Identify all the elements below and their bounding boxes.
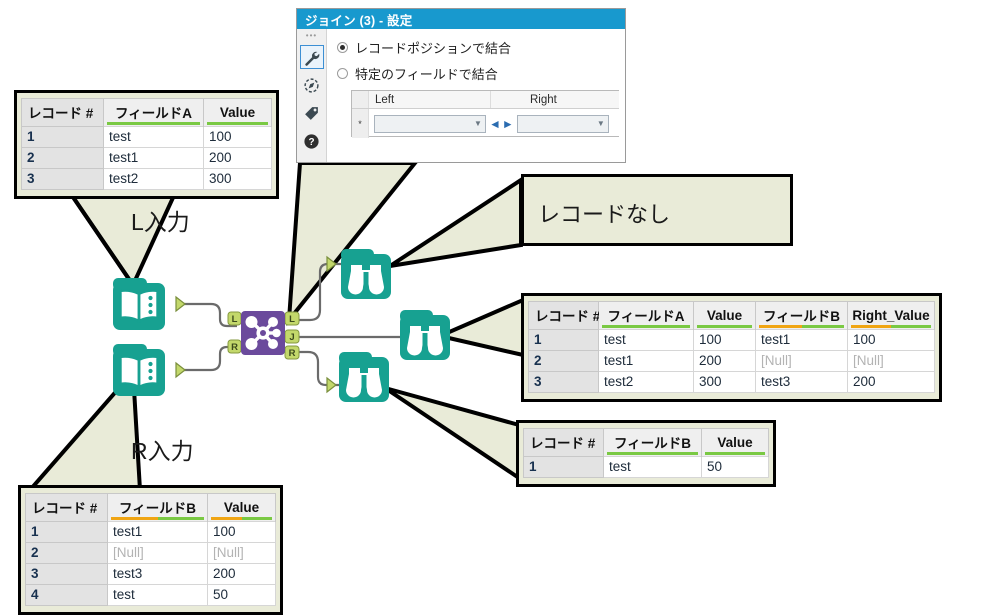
input-tool-left[interactable]: [113, 278, 165, 330]
chevron-down-icon[interactable]: ▼: [471, 116, 485, 132]
record-number-cell: 2: [26, 543, 108, 564]
join-grid-header: Left Right: [352, 91, 619, 109]
table-cell: [Null]: [848, 351, 935, 372]
dialog-title: ジョイン (3) - 設定: [297, 9, 625, 29]
table-cell: test3: [108, 564, 208, 585]
table-row: 3test3200: [26, 564, 276, 585]
record-number-cell: 1: [524, 457, 604, 478]
no-record-label: レコードなし: [538, 197, 670, 229]
tag-icon[interactable]: [300, 101, 324, 125]
table-cell: [Null]: [108, 543, 208, 564]
header-rule: [107, 122, 200, 125]
record-number-cell: 3: [26, 564, 108, 585]
browse-tool-l[interactable]: [341, 249, 391, 299]
svg-text:R: R: [231, 342, 238, 353]
svg-text:L: L: [232, 314, 238, 325]
dialog-icon-bar: •••: [297, 29, 327, 162]
svg-text:?: ?: [308, 137, 314, 148]
column-header: フィールドA: [104, 99, 204, 127]
record-number-cell: 3: [22, 169, 104, 190]
column-header: Value: [208, 494, 276, 522]
join-config-dialog[interactable]: ジョイン (3) - 設定 •••: [296, 8, 626, 163]
chevron-down-icon[interactable]: ▼: [594, 116, 608, 132]
record-number-cell: 3: [529, 372, 599, 393]
table-row: 1test1100: [26, 522, 276, 543]
table-cell: 300: [694, 372, 756, 393]
header-rule: [211, 517, 272, 520]
dialog-content: レコードポジションで結合 特定のフィールドで結合 Left Right *: [327, 29, 625, 162]
label-l-input: L入力: [131, 203, 190, 237]
radio-specific-fields-icon[interactable]: [337, 68, 348, 79]
column-header: フィールドB: [108, 494, 208, 522]
table-row: 4test50: [26, 585, 276, 606]
join-tool[interactable]: [241, 311, 285, 355]
table-cell: test3: [756, 372, 848, 393]
table-row: 2[Null][Null]: [26, 543, 276, 564]
table-cell: 50: [702, 457, 769, 478]
column-header-left: Left: [369, 91, 491, 108]
record-number-cell: 1: [22, 127, 104, 148]
column-header: レコード #: [529, 302, 599, 330]
swap-column-header: [491, 91, 524, 108]
right-field-select[interactable]: ▼: [517, 115, 609, 133]
table-cell: test2: [104, 169, 204, 190]
table-cell: 200: [208, 564, 276, 585]
table-row: 3test2300: [22, 169, 272, 190]
column-header: レコード #: [524, 429, 604, 457]
option-specific-fields-label: 特定のフィールドで結合: [355, 64, 498, 83]
row-marker[interactable]: *: [352, 109, 369, 138]
wrench-icon[interactable]: [300, 45, 324, 69]
table-cell: [Null]: [208, 543, 276, 564]
left-field-select[interactable]: ▼: [374, 115, 486, 133]
table-cell: 200: [694, 351, 756, 372]
table-cell: test: [604, 457, 702, 478]
table-cell: 200: [204, 148, 272, 169]
svg-text:J: J: [289, 332, 294, 343]
radio-record-position-icon[interactable]: [337, 42, 348, 53]
table-row: 3test2300test3200: [529, 372, 935, 393]
column-header: Value: [694, 302, 756, 330]
column-header-right: Right: [524, 91, 619, 108]
help-icon[interactable]: ?: [300, 129, 324, 153]
table-row: 2test1200[Null][Null]: [529, 351, 935, 372]
join-field-grid[interactable]: Left Right * ▼ ◄ ► ▼: [351, 90, 619, 137]
column-header: フィールドB: [756, 302, 848, 330]
tail-join-output: [440, 300, 523, 355]
swap-arrows[interactable]: ◄ ►: [489, 117, 514, 131]
row-selector-header: [352, 91, 369, 108]
arrow-left-icon[interactable]: ◄: [489, 117, 501, 131]
compass-icon[interactable]: [300, 73, 324, 97]
left-input-table: レコード #フィールドAValue1test1002test12003test2…: [14, 90, 279, 199]
table-cell: 100: [694, 330, 756, 351]
arrow-right-icon[interactable]: ►: [502, 117, 514, 131]
tail-right-unjoined: [385, 388, 519, 478]
record-number-cell: 2: [22, 148, 104, 169]
table-cell: test: [599, 330, 694, 351]
input-tool-right[interactable]: [113, 344, 165, 396]
record-number-cell: 2: [529, 351, 599, 372]
table-row: 1test100test1100: [529, 330, 935, 351]
column-header: Value: [204, 99, 272, 127]
option-record-position-label: レコードポジションで結合: [355, 38, 511, 57]
table-cell: 300: [204, 169, 272, 190]
table-row: 2test1200: [22, 148, 272, 169]
svg-text:R: R: [289, 348, 296, 359]
column-header: Right_Value: [848, 302, 935, 330]
header-rule: [207, 122, 268, 125]
column-header: レコード #: [26, 494, 108, 522]
header-rule: [697, 325, 752, 328]
table-row: 1test100: [22, 127, 272, 148]
tail-no-record: [390, 180, 521, 266]
table-cell: 100: [848, 330, 935, 351]
record-number-cell: 1: [26, 522, 108, 543]
header-rule: [111, 517, 204, 520]
column-header: Value: [702, 429, 769, 457]
table-row: 1test50: [524, 457, 769, 478]
column-header: フィールドB: [604, 429, 702, 457]
table-cell: test1: [756, 330, 848, 351]
column-header: フィールドA: [599, 302, 694, 330]
table-cell: test2: [599, 372, 694, 393]
join-grid-row[interactable]: * ▼ ◄ ► ▼: [352, 109, 619, 138]
header-rule: [759, 325, 844, 328]
header-rule: [602, 325, 690, 328]
table-cell: [Null]: [756, 351, 848, 372]
right-input-table: レコード #フィールドBValue1test11002[Null][Null]3…: [18, 485, 283, 615]
table-cell: test: [104, 127, 204, 148]
record-number-cell: 1: [529, 330, 599, 351]
join-output-table: レコード #フィールドAValueフィールドBRight_Value1test1…: [521, 293, 942, 402]
label-r-input: R入力: [131, 432, 194, 466]
browse-tool-r[interactable]: [339, 352, 389, 402]
right-unjoined-table: レコード #フィールドBValue1test50: [516, 420, 776, 487]
grip-dots-icon: •••: [306, 33, 317, 41]
table-cell: 100: [208, 522, 276, 543]
browse-tool-j[interactable]: [400, 310, 450, 360]
header-rule: [705, 452, 765, 455]
column-header: レコード #: [22, 99, 104, 127]
table-cell: 100: [204, 127, 272, 148]
header-rule: [851, 325, 931, 328]
table-cell: test1: [599, 351, 694, 372]
table-cell: test: [108, 585, 208, 606]
table-cell: 50: [208, 585, 276, 606]
record-number-cell: 4: [26, 585, 108, 606]
table-cell: test1: [104, 148, 204, 169]
option-specific-fields[interactable]: 特定のフィールドで結合: [337, 62, 625, 84]
canvas: L R L J R L入力 R入力: [0, 0, 998, 601]
table-cell: 200: [848, 372, 935, 393]
header-rule: [607, 452, 698, 455]
svg-text:L: L: [289, 314, 295, 325]
option-record-position[interactable]: レコードポジションで結合: [337, 36, 625, 58]
table-cell: test1: [108, 522, 208, 543]
